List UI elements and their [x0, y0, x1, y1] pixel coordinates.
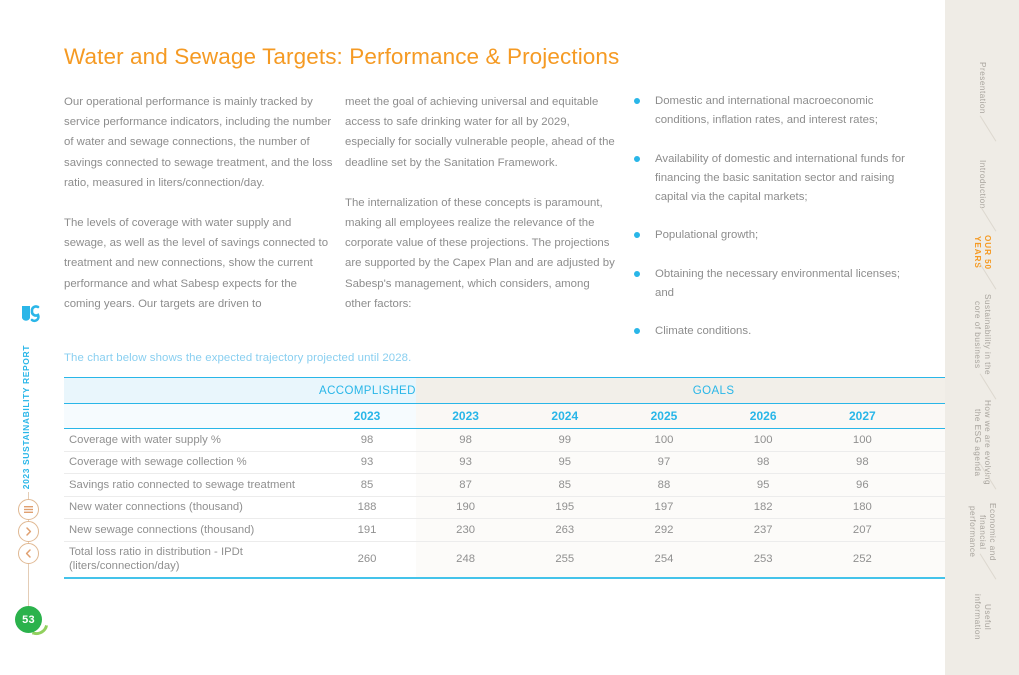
sidebar-item-our-50-years[interactable]: OUR 50 YEARS	[945, 226, 1019, 278]
cell-value: 97	[614, 451, 713, 474]
cell-value: 260	[318, 541, 416, 578]
cell-value: 195	[515, 496, 614, 519]
cell-value: 248	[416, 541, 515, 578]
next-page-button[interactable]	[18, 521, 39, 542]
cell-value: 87	[416, 474, 515, 497]
cell-value: 98	[416, 429, 515, 452]
body-column-2: meet the goal of achieving universal and…	[345, 92, 617, 334]
cell-value: 254	[614, 541, 713, 578]
group-header-goals: GOALS	[416, 378, 1011, 404]
paragraph: meet the goal of achieving universal and…	[345, 92, 617, 173]
cell-value: 100	[813, 429, 912, 452]
factors-bullet-list: Domestic and international macroeconomic…	[634, 92, 910, 361]
cell-value: 180	[813, 496, 912, 519]
list-item: Domestic and international macroeconomic…	[634, 92, 910, 131]
cell-value: 95	[714, 474, 813, 497]
list-item: Populational growth;	[634, 226, 910, 245]
sidebar-item-label: Presentation	[977, 52, 987, 124]
column-header-2027: 2027	[813, 404, 912, 429]
document-page: 2023 SUSTAINABILITY REPORT 53 Water and …	[0, 0, 1019, 675]
page-title: Water and Sewage Targets: Performance & …	[64, 44, 619, 70]
cell-value: 190	[416, 496, 515, 519]
group-header-blank	[64, 378, 318, 404]
left-navigation-rail: 2023 SUSTAINABILITY REPORT 53	[0, 0, 56, 675]
year-header-blank	[64, 404, 318, 429]
row-label: Savings ratio connected to sewage treatm…	[64, 474, 318, 497]
cell-value: 197	[614, 496, 713, 519]
right-navigation-rail: Presentation Introduction OUR 50 YEARS S…	[945, 0, 1019, 675]
cell-value: 93	[318, 451, 416, 474]
chart-note: The chart below shows the expected traje…	[64, 352, 411, 364]
cell-value: 252	[813, 541, 912, 578]
table-row: Savings ratio connected to sewage treatm…	[64, 474, 1011, 497]
cell-value: 98	[318, 429, 416, 452]
cell-value: 93	[416, 451, 515, 474]
menu-button[interactable]	[18, 499, 39, 520]
list-item: Availability of domestic and internation…	[634, 150, 910, 208]
cell-value: 182	[714, 496, 813, 519]
table-row: New water connections (thousand) 188 190…	[64, 496, 1011, 519]
row-label: Total loss ratio in distribution - IPDt …	[64, 541, 318, 578]
sidebar-item-useful-information[interactable]: Useful information	[945, 580, 1019, 654]
row-label: Coverage with water supply %	[64, 429, 318, 452]
sidebar-item-label: How we are evolving the ESG agenda	[972, 400, 992, 486]
column-header-2025: 2025	[614, 404, 713, 429]
cell-value: 85	[515, 474, 614, 497]
cell-value: 96	[813, 474, 912, 497]
prev-page-button[interactable]	[18, 543, 39, 564]
cell-value: 230	[416, 519, 515, 542]
cell-value: 85	[318, 474, 416, 497]
group-header-accomplished: ACCOMPLISHED	[318, 378, 416, 404]
cell-value: 255	[515, 541, 614, 578]
column-header-2023-goal: 2023	[416, 404, 515, 429]
list-item: Obtaining the necessary environmental li…	[634, 265, 910, 304]
row-label: Coverage with sewage collection %	[64, 451, 318, 474]
page-number-badge: 53	[15, 606, 42, 633]
cell-value: 98	[813, 451, 912, 474]
paragraph: Our operational performance is mainly tr…	[64, 92, 336, 193]
row-label: New water connections (thousand)	[64, 496, 318, 519]
cell-value: 98	[714, 451, 813, 474]
sidebar-item-sustainability-core[interactable]: Sustainability in the core of business	[945, 288, 1019, 382]
list-item: Climate conditions.	[634, 322, 910, 341]
sidebar-item-esg-agenda[interactable]: How we are evolving the ESG agenda	[945, 400, 1019, 486]
menu-icon	[23, 504, 34, 515]
cell-value: 100	[614, 429, 713, 452]
report-label: 2023 SUSTAINABILITY REPORT	[21, 345, 31, 489]
sidebar-item-presentation[interactable]: Presentation	[945, 52, 1019, 124]
column-header-2023-accomplished: 2023	[318, 404, 416, 429]
table-row: Total loss ratio in distribution - IPDt …	[64, 541, 1011, 578]
table-row: Coverage with sewage collection % 93 93 …	[64, 451, 1011, 474]
sidebar-item-economic-performance[interactable]: Economic and financial performance	[945, 490, 1019, 574]
table-group-header-row: ACCOMPLISHED GOALS	[64, 378, 1011, 404]
chevron-left-icon	[24, 548, 33, 559]
cell-value: 188	[318, 496, 416, 519]
table-year-header-row: 2023 2023 2024 2025 2026 2027 2028	[64, 404, 1011, 429]
targets-table-wrapper: ACCOMPLISHED GOALS 2023 2023 2024 2025 2…	[64, 377, 912, 579]
cell-value: 99	[515, 429, 614, 452]
sidebar-item-label: Sustainability in the core of business	[972, 288, 992, 382]
table-row: New sewage connections (thousand) 191 23…	[64, 519, 1011, 542]
cell-value: 100	[714, 429, 813, 452]
cell-value: 95	[515, 451, 614, 474]
body-column-1: Our operational performance is mainly tr…	[64, 92, 336, 334]
cell-value: 263	[515, 519, 614, 542]
cell-value: 237	[714, 519, 813, 542]
main-content: Water and Sewage Targets: Performance & …	[56, 0, 945, 675]
cell-value: 191	[318, 519, 416, 542]
column-header-2026: 2026	[714, 404, 813, 429]
column-header-2024: 2024	[515, 404, 614, 429]
table-body: Coverage with water supply % 98 98 99 10…	[64, 429, 1011, 578]
cell-value: 88	[614, 474, 713, 497]
sidebar-item-label: OUR 50 YEARS	[972, 226, 992, 278]
paragraph: The levels of coverage with water supply…	[64, 213, 336, 314]
sidebar-item-label: Useful information	[972, 580, 992, 654]
table-row: Coverage with water supply % 98 98 99 10…	[64, 429, 1011, 452]
chevron-right-icon	[24, 526, 33, 537]
cell-value: 253	[714, 541, 813, 578]
cell-value: 292	[614, 519, 713, 542]
sabesp-logo[interactable]	[18, 303, 42, 327]
paragraph: The internalization of these concepts is…	[345, 193, 617, 314]
targets-table: ACCOMPLISHED GOALS 2023 2023 2024 2025 2…	[64, 377, 1011, 579]
sidebar-item-label: Economic and financial performance	[967, 490, 997, 574]
row-label: New sewage connections (thousand)	[64, 519, 318, 542]
cell-value: 207	[813, 519, 912, 542]
